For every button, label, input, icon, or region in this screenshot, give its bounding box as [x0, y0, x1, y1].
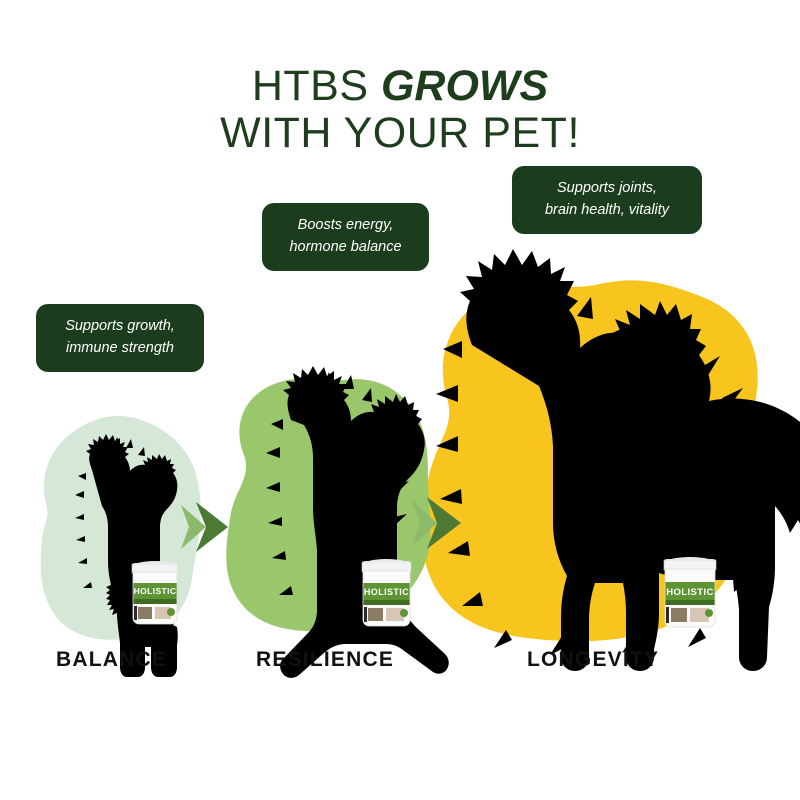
callout-balance-line-1: Supports growth, — [52, 316, 188, 338]
page-title-prefix: HTBS — [252, 62, 381, 110]
callout-resilience: Boosts energy, hormone balance — [262, 203, 429, 271]
callout-balance-line-2: immune strength — [52, 338, 188, 360]
page-title: HTBS GROWS WITH YOUR PET! — [0, 63, 800, 156]
stage-label-longevity: LONGEVITY — [527, 648, 659, 672]
callout-longevity-line-1: Supports joints, — [528, 178, 686, 200]
product-brand-text-3: HOLISTIC — [666, 587, 714, 598]
product-jar-resilience[interactable]: HOLISTIC — [357, 554, 416, 632]
callout-longevity: Supports joints, brain health, vitality — [512, 166, 702, 234]
page-title-line-2: WITH YOUR PET! — [0, 110, 800, 156]
product-jar-balance[interactable]: HOLISTIC — [127, 556, 183, 630]
product-jar-longevity[interactable]: HOLISTIC — [659, 551, 721, 633]
page-title-line-1: HTBS GROWS — [0, 63, 800, 109]
product-brand-text-1: HOLISTIC — [134, 586, 177, 596]
callout-resilience-line-1: Boosts energy, — [278, 215, 413, 237]
callout-resilience-line-2: hormone balance — [278, 237, 413, 259]
product-brand-text-2: HOLISTIC — [364, 587, 409, 597]
callout-longevity-line-2: brain health, vitality — [528, 200, 686, 222]
callout-balance: Supports growth, immune strength — [36, 304, 204, 372]
stage-label-resilience: RESILIENCE — [256, 648, 394, 672]
page-title-emphasis: GROWS — [381, 62, 548, 110]
stage-label-balance: BALANCE — [56, 648, 167, 672]
